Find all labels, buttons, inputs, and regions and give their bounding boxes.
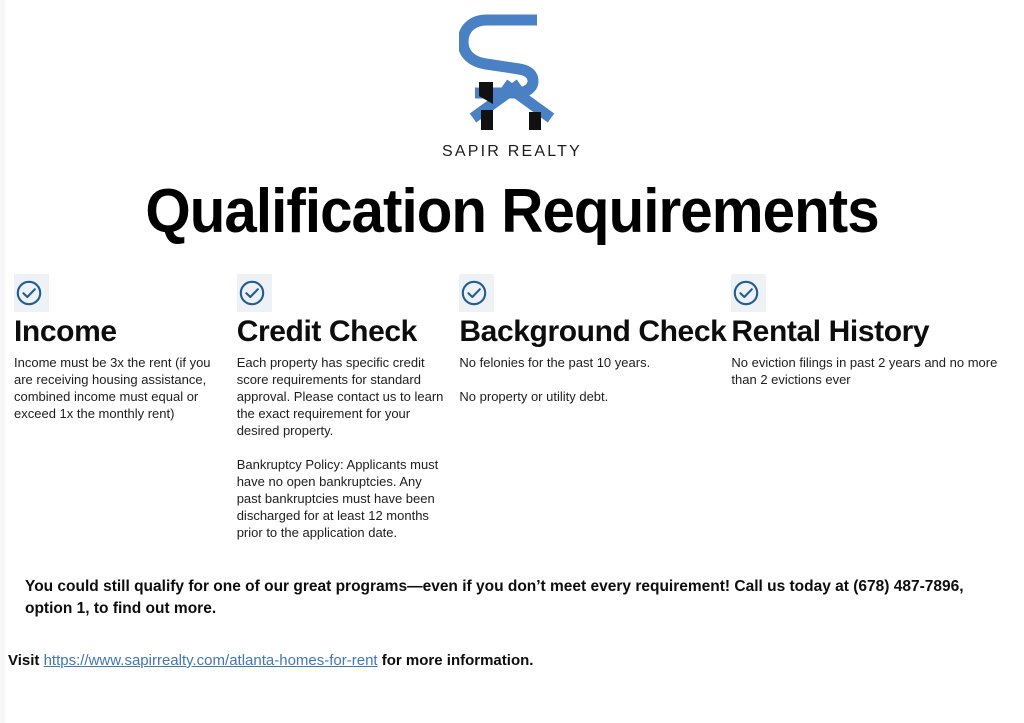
column-paragraph: Each property has specific credit score …	[237, 354, 445, 439]
visit-suffix: for more information.	[378, 652, 534, 669]
qualify-callout: You could still qualify for one of our g…	[25, 576, 985, 620]
brand-logo-block: SAPIR REALTY	[0, 12, 1024, 161]
requirement-column-background-check: Background Check No felonies for the pas…	[459, 274, 731, 405]
column-paragraph: No property or utility debt.	[459, 388, 717, 405]
requirements-columns: Income Income must be 3x the rent (if yo…	[14, 274, 1014, 541]
sapir-sr-monogram-icon	[459, 12, 565, 136]
visit-line: Visit https://www.sapirrealty.com/atlant…	[8, 650, 1008, 671]
column-paragraph: No eviction filings in past 2 years and …	[731, 354, 1000, 388]
brand-wordmark: SAPIR REALTY	[0, 143, 1024, 161]
circle-check-icon	[459, 274, 494, 312]
column-paragraph: Bankruptcy Policy: Applicants must have …	[237, 456, 445, 541]
circle-check-icon	[237, 274, 272, 312]
requirement-column-credit-check: Credit Check Each property has specific …	[237, 274, 459, 541]
column-heading: Background Check	[459, 314, 717, 350]
circle-check-icon	[14, 274, 49, 312]
column-heading: Rental History	[731, 314, 1000, 350]
column-paragraph: Income must be 3x the rent (if you are r…	[14, 354, 222, 422]
column-heading: Income	[14, 314, 222, 350]
requirement-column-income: Income Income must be 3x the rent (if yo…	[14, 274, 236, 422]
flyer-page: SAPIR REALTY Qualification Requirements …	[0, 0, 1024, 723]
circle-check-icon	[731, 274, 766, 312]
website-link[interactable]: https://www.sapirrealty.com/atlanta-home…	[44, 652, 378, 669]
page-title: Qualification Requirements	[31, 176, 994, 248]
requirement-column-rental-history: Rental History No eviction filings in pa…	[731, 274, 1014, 388]
visit-prefix: Visit	[8, 652, 44, 669]
column-paragraph: No felonies for the past 10 years.	[459, 354, 717, 371]
column-heading: Credit Check	[237, 314, 445, 350]
